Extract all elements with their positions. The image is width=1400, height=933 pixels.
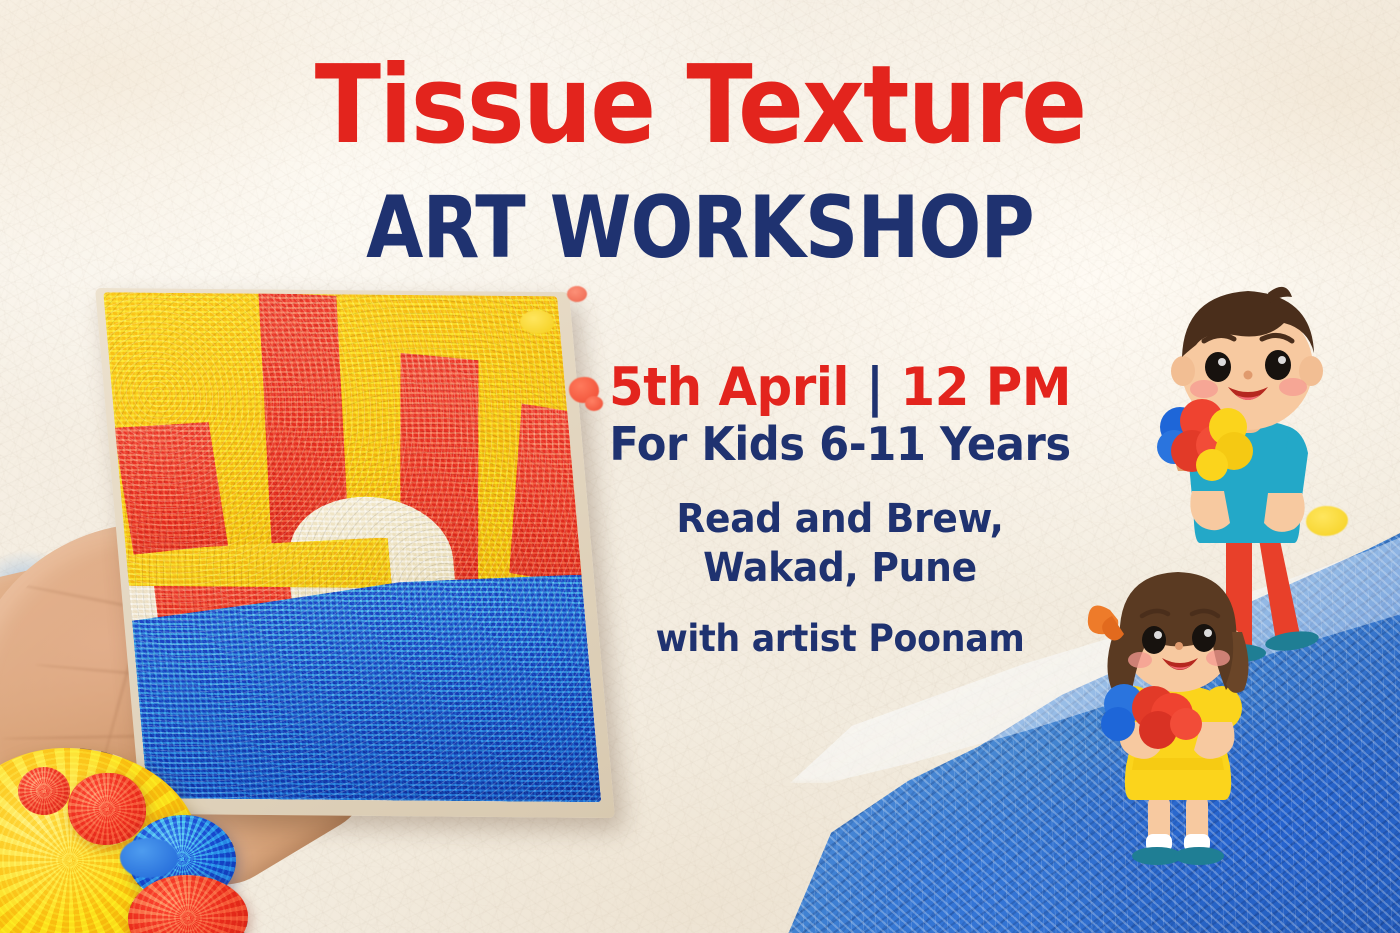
page-subtitle: ART WORKSHOP [98, 185, 1302, 271]
poster-canvas: Tissue Texture ART WORKSHOP 5th April | … [0, 0, 1400, 933]
tissue-art-canvas [89, 261, 620, 844]
artwork-tissue-texture-dots [103, 292, 601, 802]
canvas-surface [103, 292, 601, 802]
venue-line-1: Read and Brew, [596, 495, 1085, 544]
event-date: 5th April [609, 357, 849, 418]
tissue-ball-red [18, 767, 70, 815]
event-details: 5th April | 12 PM For Kids 6-11 Years Re… [580, 360, 1100, 660]
venue-line-2: Wakad, Pune [596, 544, 1085, 593]
event-date-time: 5th April | 12 PM [596, 360, 1085, 416]
event-audience: For Kids 6-11 Years [596, 420, 1085, 470]
separator: | [866, 357, 884, 418]
event-artist: with artist Poonam [596, 619, 1085, 660]
tissue-flower-icon [585, 396, 603, 411]
tissue-ball-red [68, 773, 146, 845]
tissue-fleck-blue [120, 838, 178, 878]
tissue-fleck-yellow [520, 310, 554, 334]
event-time: 12 PM [901, 357, 1071, 418]
event-venue: Read and Brew, Wakad, Pune [596, 495, 1085, 593]
page-title: Tissue Texture [70, 52, 1330, 160]
tissue-fleck-red [567, 286, 587, 302]
